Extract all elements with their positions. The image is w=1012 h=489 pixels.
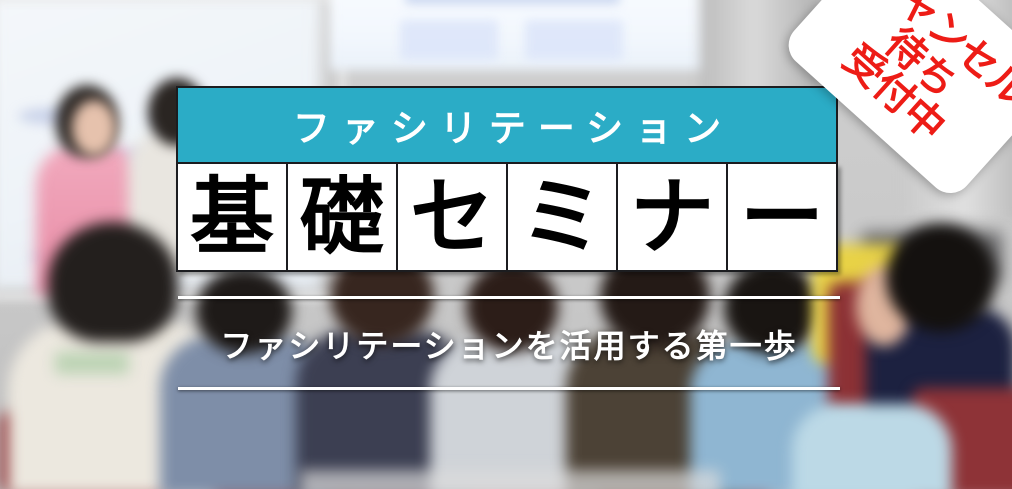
projector-screen xyxy=(330,0,710,70)
title-box-2: 礎 xyxy=(288,164,398,270)
title-box-1: 基 xyxy=(178,164,288,270)
shirt-logo xyxy=(55,352,129,374)
attendee-body xyxy=(792,404,952,489)
slide-content-block xyxy=(525,20,623,60)
attendee-head xyxy=(886,224,996,332)
title-box-3: セ xyxy=(398,164,508,270)
attendee-head xyxy=(48,222,178,342)
slide-content-block xyxy=(400,20,498,60)
subtitle-text: ファシリテーションを活用する第一歩 xyxy=(178,299,840,387)
kana-bar-text: ファシリテーション xyxy=(281,98,733,152)
presenter-face xyxy=(72,100,116,156)
headline-block: ファシリテーション 基 礎 セ ミ ナ ー xyxy=(176,86,838,272)
subtitle-rule-bottom xyxy=(178,387,840,390)
subtitle-block: ファシリテーションを活用する第一歩 xyxy=(178,296,840,390)
desk xyxy=(300,470,720,489)
title-box-6: ー xyxy=(728,164,836,270)
title-box-row: 基 礎 セ ミ ナ ー xyxy=(176,164,838,272)
title-box-5: ナ xyxy=(618,164,728,270)
title-box-4: ミ xyxy=(508,164,618,270)
slide-heading-block xyxy=(405,0,620,4)
seminar-banner: ファシリテーション 基 礎 セ ミ ナ ー ファシリテーションを活用する第一歩 … xyxy=(0,0,1012,489)
kana-bar: ファシリテーション xyxy=(176,86,838,164)
